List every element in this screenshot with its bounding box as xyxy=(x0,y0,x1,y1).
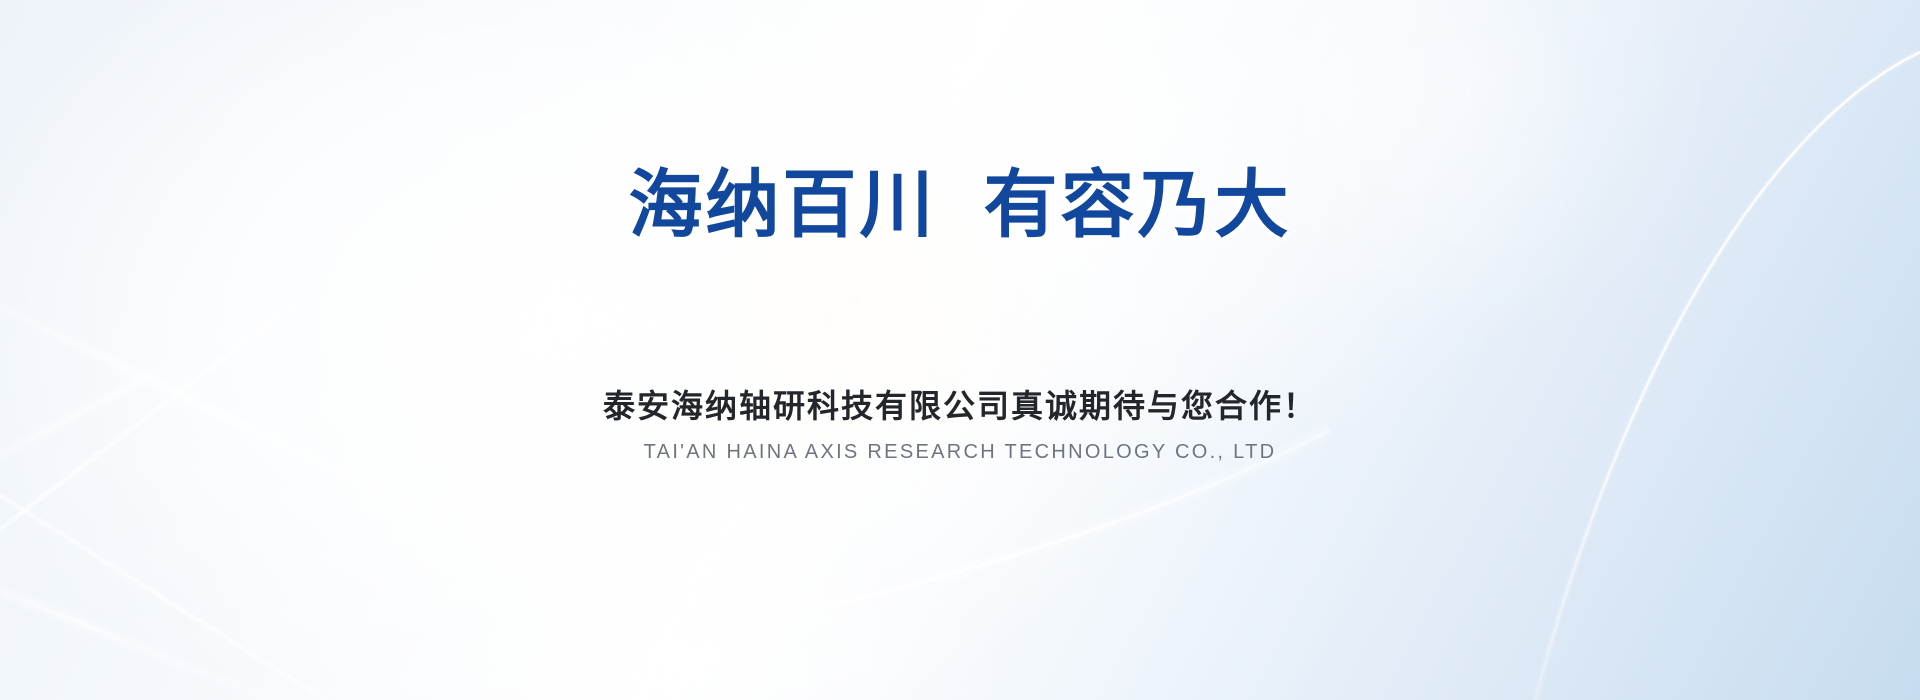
hero-banner: 海纳百川 有容乃大 泰安海纳轴研科技有限公司真诚期待与您合作！ TAI'AN H… xyxy=(0,0,1920,700)
banner-subtitle-chinese: 泰安海纳轴研科技有限公司真诚期待与您合作！ xyxy=(0,381,1920,427)
banner-headline: 海纳百川 有容乃大 xyxy=(0,168,1920,242)
banner-subtitle-english: TAI'AN HAINA AXIS RESEARCH TECHNOLOGY CO… xyxy=(0,441,1920,464)
banner-content: 海纳百川 有容乃大 泰安海纳轴研科技有限公司真诚期待与您合作！ TAI'AN H… xyxy=(0,0,1920,700)
